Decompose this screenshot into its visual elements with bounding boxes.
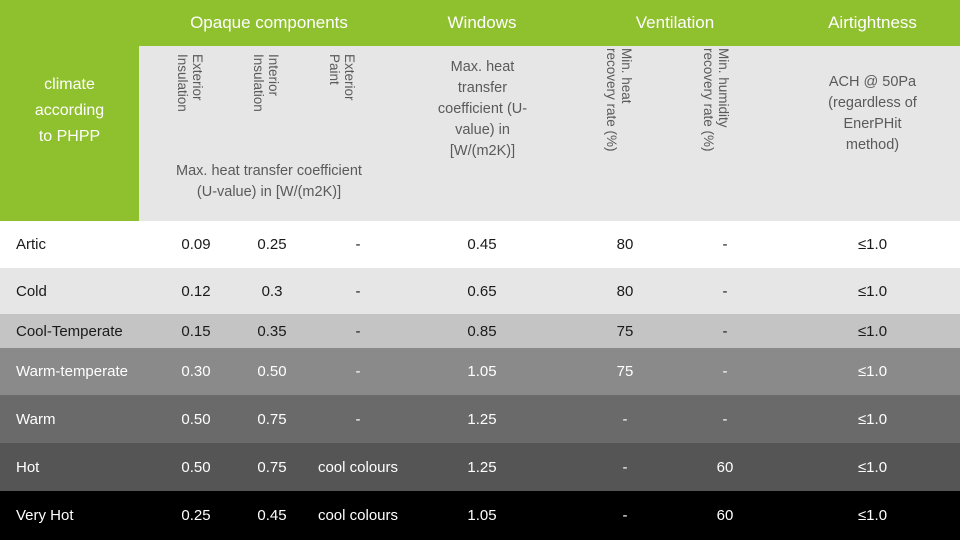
cell-ext-insulation: 0.30 — [160, 348, 232, 395]
ventilation-subheader-rotated-line: recovery rate (%) — [604, 48, 619, 160]
cell-int-insulation: 0.45 — [236, 491, 308, 540]
cell-ext-insulation: 0.25 — [160, 491, 232, 540]
group-header: Airtightness — [785, 0, 960, 46]
cell-ach: ≤1.0 — [785, 268, 960, 314]
cell-ext-insulation: 0.50 — [160, 443, 232, 491]
cell-climate: Cold — [0, 268, 170, 314]
table-row[interactable]: Artic0.090.25-0.4580-≤1.0 — [0, 221, 960, 268]
cell-int-insulation: 0.75 — [236, 443, 308, 491]
opaque-subheader-rotated: ExteriorPaint — [245, 54, 357, 166]
opaque-caption-line: Max. heat transfer coefficient — [139, 161, 399, 182]
table-row[interactable]: Cool-Temperate0.150.35-0.8575-≤1.0 — [0, 314, 960, 348]
windows-caption-line: coefficient (U- — [404, 99, 561, 120]
group-header: Windows — [399, 0, 565, 46]
cell-climate: Warm-temperate — [0, 348, 170, 395]
table-row[interactable]: Warm-temperate0.300.50-1.0575-≤1.0 — [0, 348, 960, 395]
cell-humidity-recovery: 60 — [665, 443, 785, 491]
cell-ext-paint: cool colours — [300, 491, 416, 540]
windows-caption-line: Max. heat — [404, 57, 561, 78]
table-row[interactable]: Very Hot0.250.45cool colours1.05-60≤1.0 — [0, 491, 960, 540]
cell-climate: Artic — [0, 221, 170, 268]
cell-climate: Very Hot — [0, 491, 170, 540]
cell-ach: ≤1.0 — [785, 221, 960, 268]
airtightness-caption-line: EnerPHit — [790, 114, 955, 135]
cell-window-u: 0.65 — [420, 268, 544, 314]
table-row[interactable]: Hot0.500.75cool colours1.25-60≤1.0 — [0, 443, 960, 491]
windows-caption: Max. heattransfercoefficient (U-value) i… — [404, 57, 561, 162]
airtightness-caption-line: ACH @ 50Pa — [790, 72, 955, 93]
cell-ext-paint: - — [300, 348, 416, 395]
cell-humidity-recovery: - — [665, 348, 785, 395]
cell-int-insulation: 0.25 — [236, 221, 308, 268]
cell-window-u: 0.85 — [420, 314, 544, 348]
ventilation-subheader-rotated-line: Min. humidity — [716, 48, 731, 160]
group-header: Ventilation — [565, 0, 785, 46]
opaque-caption: Max. heat transfer coefficient(U-value) … — [139, 161, 399, 203]
windows-caption-line: transfer — [404, 78, 561, 99]
cell-ext-paint: - — [300, 221, 416, 268]
cell-humidity-recovery: - — [665, 395, 785, 443]
table-row[interactable]: Cold0.120.3-0.6580-≤1.0 — [0, 268, 960, 314]
cell-ach: ≤1.0 — [785, 348, 960, 395]
opaque-caption-line: (U-value) in [W/(m2K)] — [139, 182, 399, 203]
climate-requirements-table: climate according to PHPP Opaque compone… — [0, 0, 960, 540]
cell-ext-insulation: 0.50 — [160, 395, 232, 443]
cell-ext-paint: cool colours — [300, 443, 416, 491]
table-row[interactable]: Warm0.500.75-1.25--≤1.0 — [0, 395, 960, 443]
cell-ext-insulation: 0.12 — [160, 268, 232, 314]
ventilation-subheader-rotated: Min. humidityrecovery rate (%) — [619, 48, 731, 160]
opaque-subheader-rotated-line: Paint — [327, 54, 342, 166]
cell-window-u: 1.25 — [420, 443, 544, 491]
cell-ach: ≤1.0 — [785, 314, 960, 348]
cell-climate: Warm — [0, 395, 170, 443]
cell-int-insulation: 0.50 — [236, 348, 308, 395]
cell-climate: Hot — [0, 443, 170, 491]
cell-ach: ≤1.0 — [785, 491, 960, 540]
cell-window-u: 0.45 — [420, 221, 544, 268]
cell-ach: ≤1.0 — [785, 395, 960, 443]
cell-int-insulation: 0.3 — [236, 268, 308, 314]
cell-window-u: 1.25 — [420, 395, 544, 443]
cell-humidity-recovery: 60 — [665, 491, 785, 540]
cell-ext-insulation: 0.15 — [160, 314, 232, 348]
cell-window-u: 1.05 — [420, 491, 544, 540]
group-header: Opaque components — [139, 0, 399, 46]
windows-caption-line: [W/(m2K)] — [404, 141, 561, 162]
cell-climate: Cool-Temperate — [0, 314, 170, 348]
cell-ach: ≤1.0 — [785, 443, 960, 491]
cell-int-insulation: 0.75 — [236, 395, 308, 443]
cell-ext-paint: - — [300, 268, 416, 314]
cell-humidity-recovery: - — [665, 268, 785, 314]
cell-humidity-recovery: - — [665, 221, 785, 268]
cell-ext-paint: - — [300, 314, 416, 348]
cell-humidity-recovery: - — [665, 314, 785, 348]
cell-int-insulation: 0.35 — [236, 314, 308, 348]
cell-ext-insulation: 0.09 — [160, 221, 232, 268]
airtightness-caption: ACH @ 50Pa(regardless ofEnerPHitmethod) — [790, 72, 955, 156]
ventilation-subheader-rotated-line: recovery rate (%) — [701, 48, 716, 160]
cell-window-u: 1.05 — [420, 348, 544, 395]
opaque-subheader-rotated-line: Exterior — [342, 54, 357, 166]
airtightness-caption-line: (regardless of — [790, 93, 955, 114]
cell-ext-paint: - — [300, 395, 416, 443]
windows-caption-line: value) in — [404, 120, 561, 141]
airtightness-caption-line: method) — [790, 135, 955, 156]
